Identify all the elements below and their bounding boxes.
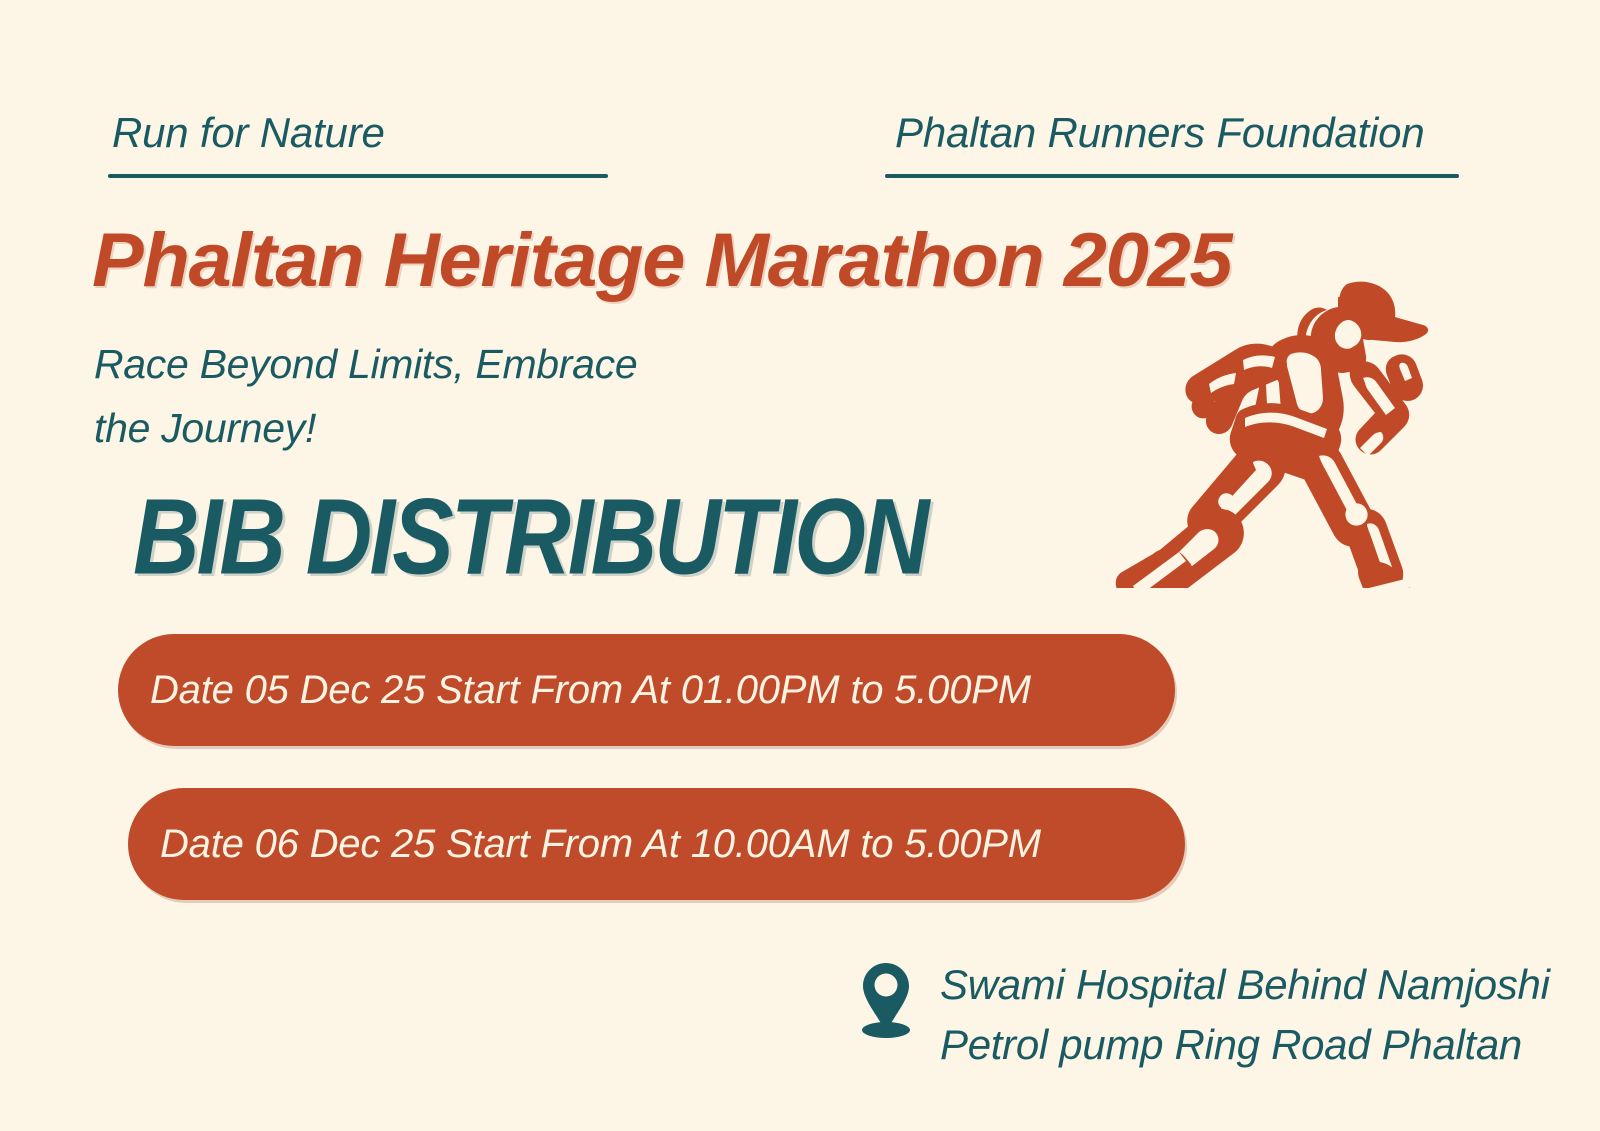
venue-address: Swami Hospital Behind Namjoshi Petrol pu… xyxy=(940,955,1550,1074)
tagline-line-1: Race Beyond Limits, Embrace xyxy=(94,333,734,397)
eyebrow-right-rule xyxy=(885,174,1459,178)
marathon-poster: Run for Nature Phaltan Runners Foundatio… xyxy=(0,0,1600,1131)
eyebrow-run-for-nature: Run for Nature xyxy=(112,112,385,154)
date-pill-day-one: Date 05 Dec 25 Start From At 01.00PM to … xyxy=(118,634,1175,746)
bib-distribution-heading: BIB DISTRIBUTION xyxy=(133,484,927,592)
eyebrow-organisation-name: Phaltan Runners Foundation xyxy=(895,112,1425,154)
running-athlete-illustration xyxy=(1095,268,1480,588)
event-title: Phaltan Heritage Marathon 2025 xyxy=(92,223,1231,299)
date-pill-day-two-text: Date 06 Dec 25 Start From At 10.00AM to … xyxy=(128,824,1041,864)
date-pill-day-two: Date 06 Dec 25 Start From At 10.00AM to … xyxy=(128,788,1185,900)
event-tagline: Race Beyond Limits, Embrace the Journey! xyxy=(94,333,734,460)
venue-block: Swami Hospital Behind Namjoshi Petrol pu… xyxy=(858,955,1550,1074)
location-pin-icon xyxy=(858,959,914,1039)
tagline-line-2: the Journey! xyxy=(94,397,734,461)
eyebrow-left-rule xyxy=(108,174,608,178)
date-pill-day-one-text: Date 05 Dec 25 Start From At 01.00PM to … xyxy=(118,670,1031,710)
venue-address-line-1: Swami Hospital Behind Namjoshi xyxy=(940,955,1550,1015)
venue-address-line-2: Petrol pump Ring Road Phaltan xyxy=(940,1015,1550,1075)
